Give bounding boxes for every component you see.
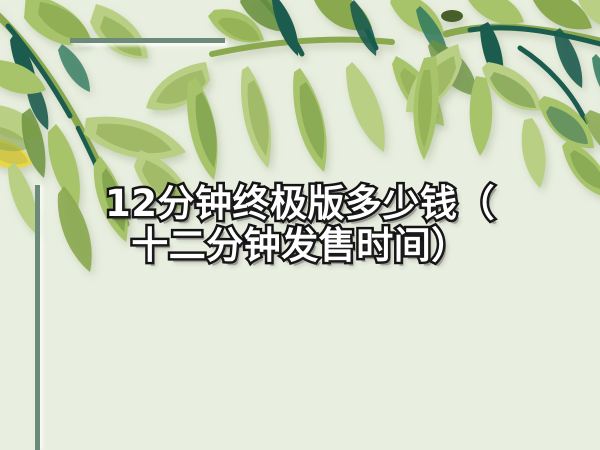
poster-canvas: 12分钟终极版多少钱（ 十二分钟发售时间） bbox=[0, 0, 600, 450]
page-title-line-1: 12分钟终极版多少钱（ bbox=[0, 183, 600, 225]
page-title: 12分钟终极版多少钱（ 十二分钟发售时间） bbox=[0, 183, 600, 267]
horizontal-rule bbox=[70, 38, 225, 43]
leaf-cluster-top-right bbox=[406, 0, 600, 198]
leaf-cluster-top-center bbox=[146, 0, 478, 180]
page-title-line-2: 十二分钟发售时间） bbox=[0, 225, 600, 267]
